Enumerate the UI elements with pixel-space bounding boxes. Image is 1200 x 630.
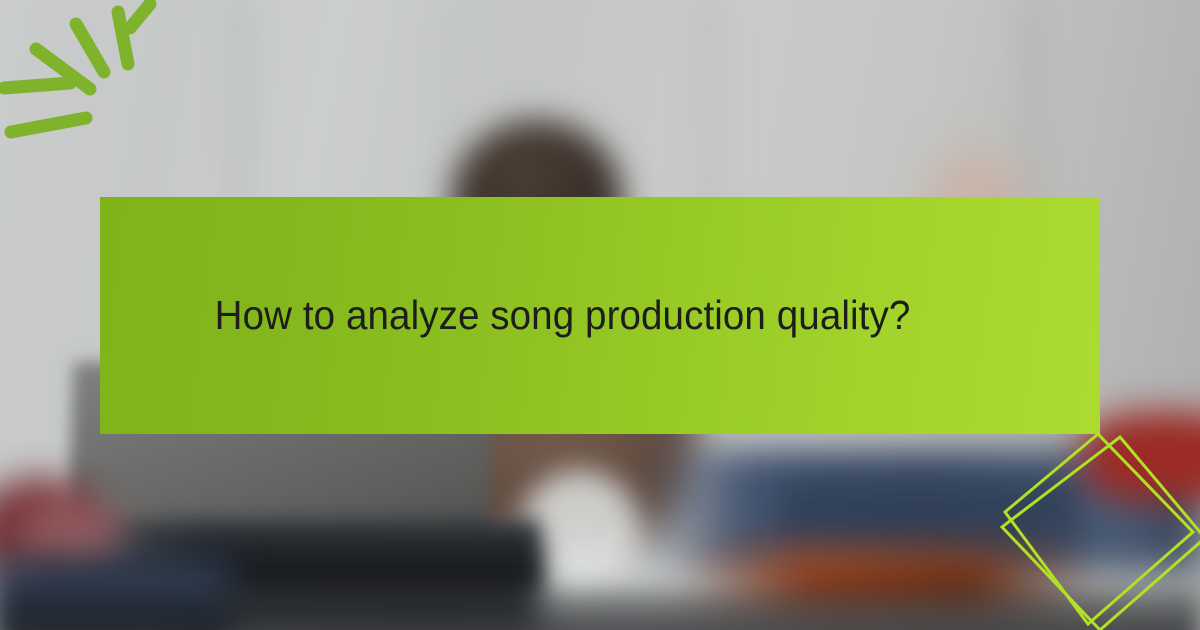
sunburst-ray [4,83,70,88]
photo-floor-shadow [0,590,1200,630]
sunburst-ray [130,4,150,28]
sunburst-icon [0,0,200,170]
photo-desk-blue-band [780,478,1080,548]
sunburst-ray [118,12,128,64]
title-banner: How to analyze song production quality? [100,197,1100,434]
page-title: How to analyze song production quality? [100,292,948,339]
photo-wall-seam [700,0,722,214]
cover-card: How to analyze song production quality? [0,0,1200,630]
sunburst-ray [11,118,86,132]
sunburst-ray [76,24,104,72]
